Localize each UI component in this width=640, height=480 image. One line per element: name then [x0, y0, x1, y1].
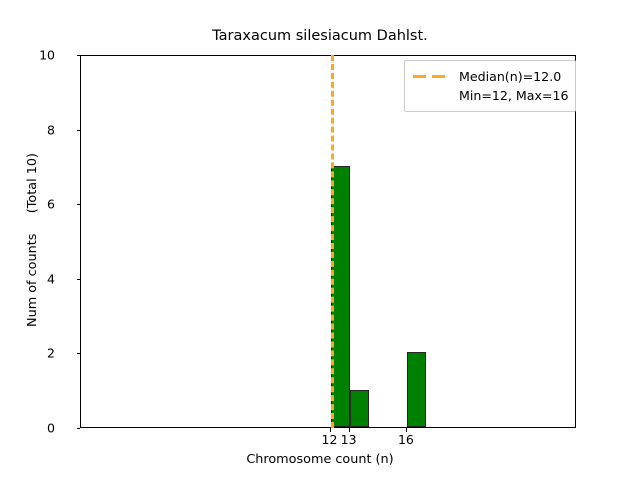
bar-13 — [350, 390, 369, 427]
y-axis-label: Num of counts (Total 10) — [24, 0, 42, 480]
x-tick-label-16: 16 — [398, 432, 414, 447]
page-title: Taraxacum silesiacum Dahlst. — [0, 28, 640, 44]
legend-label-minmax: Min=12, Max=16 — [459, 88, 569, 103]
legend: Median(n)=12.0 Min=12, Max=16 — [404, 60, 576, 112]
histogram-figure: Taraxacum silesiacum Dahlst. 0 2 4 6 8 1… — [0, 0, 640, 480]
legend-label-median: Median(n)=12.0 — [459, 69, 561, 84]
legend-entry-median: Median(n)=12.0 — [411, 67, 567, 86]
median-line — [331, 55, 334, 428]
x-axis-label: Chromosome count (n) — [0, 452, 640, 467]
y-tick-mark-0 — [77, 428, 81, 429]
x-tick-label-13: 13 — [341, 432, 357, 447]
legend-entry-minmax: Min=12, Max=16 — [411, 86, 567, 105]
dashed-line-icon — [411, 71, 453, 83]
x-tick-label-12: 12 — [322, 432, 338, 447]
bar-16 — [407, 352, 426, 427]
